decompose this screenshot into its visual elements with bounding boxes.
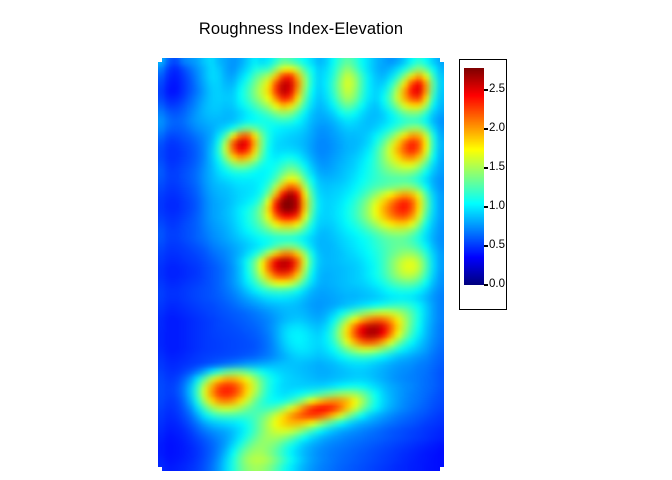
heatmap-axes[interactable] — [158, 58, 444, 471]
colorbar-tick-label: 1.5 — [489, 162, 505, 174]
colorbar-gradient — [464, 68, 484, 285]
heatmap-image[interactable] — [158, 58, 444, 471]
corner-marker-bottom-left — [158, 467, 162, 471]
colorbar-tick-label: 0.0 — [489, 279, 505, 291]
colorbar-tick-label: 1.0 — [489, 201, 505, 213]
colorbar-tick-label: 2.0 — [489, 123, 505, 135]
corner-marker-bottom-right — [440, 467, 444, 471]
colorbar-tick-mark — [484, 206, 488, 207]
colorbar-tick-mark — [484, 89, 488, 90]
colorbar-tick-mark — [484, 245, 488, 246]
colorbar-tick-mark — [484, 167, 488, 168]
colorbar-tick-mark — [484, 128, 488, 129]
colorbar-tick-label: 2.5 — [489, 84, 505, 96]
corner-marker-top-left — [158, 58, 162, 62]
figure-canvas: Roughness Index-Elevation 2.52.01.51.00.… — [0, 0, 672, 480]
colorbar-tick-mark — [484, 284, 488, 285]
colorbar-tick-label: 0.5 — [489, 240, 505, 252]
page-title: Roughness Index-Elevation — [158, 20, 444, 39]
corner-marker-top-right — [440, 58, 444, 62]
